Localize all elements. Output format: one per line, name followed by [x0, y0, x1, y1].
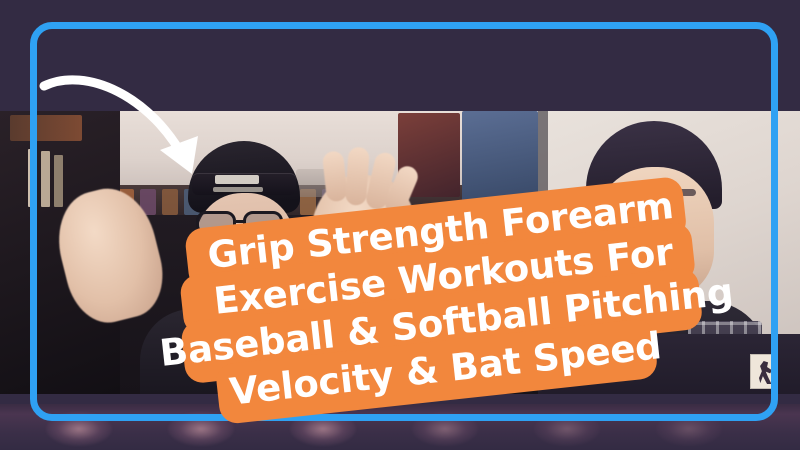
thumbnail-canvas: Grip Strength Forearm Exercise Workouts … [0, 0, 800, 450]
curved-down-right-arrow-icon [34, 58, 234, 188]
